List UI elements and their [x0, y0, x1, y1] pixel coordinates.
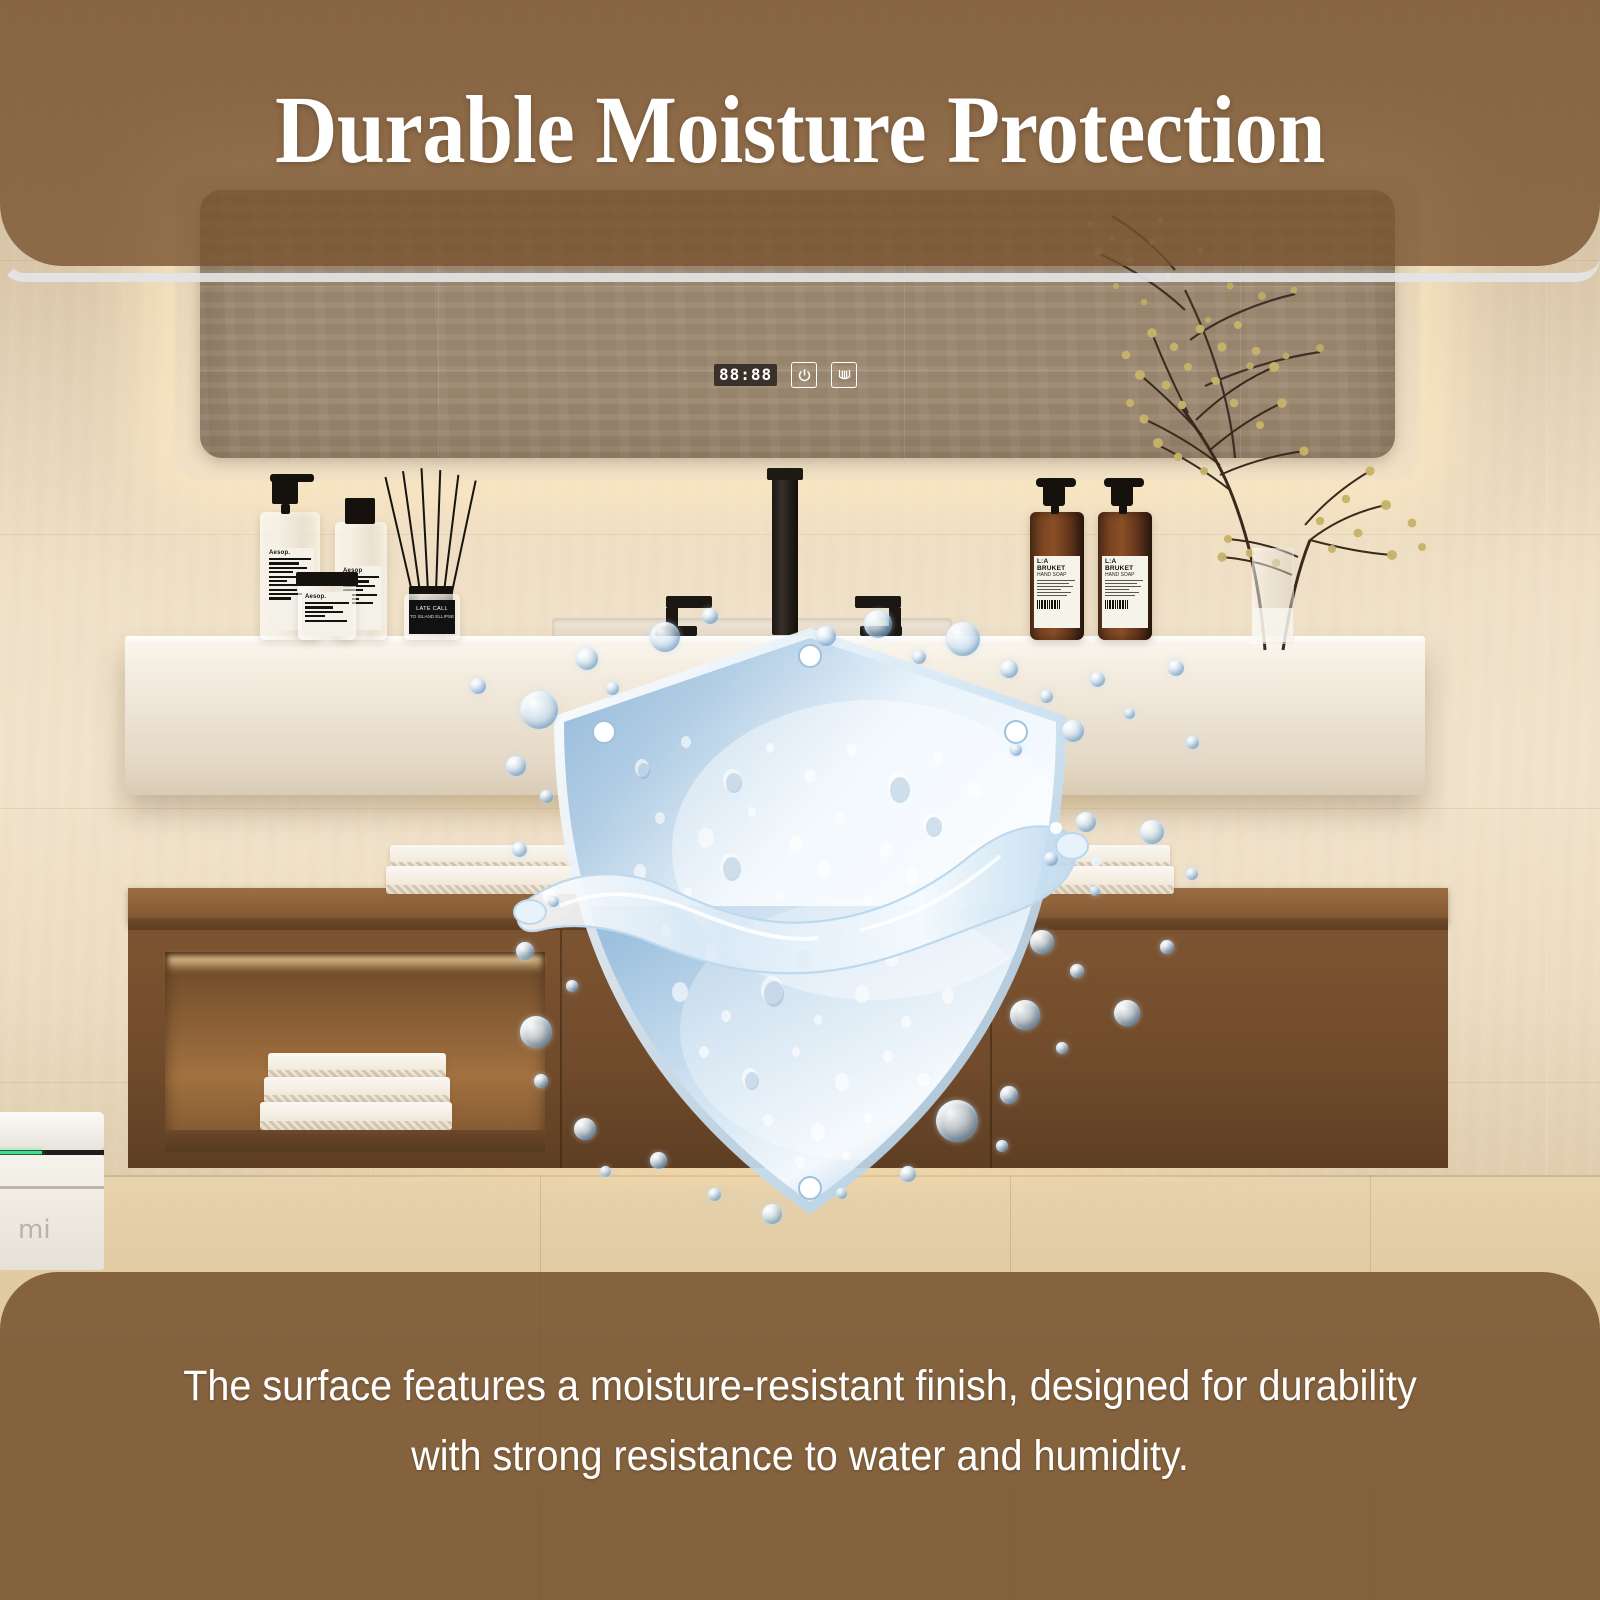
bubble — [762, 1204, 782, 1224]
bubble — [1186, 868, 1198, 880]
pump-head — [1043, 484, 1065, 506]
towel-shelf-item — [260, 1102, 452, 1130]
bubble — [946, 622, 980, 656]
bubble — [1160, 940, 1174, 954]
bubble — [606, 682, 619, 695]
water-resistance-shield — [500, 600, 1120, 1240]
bubble — [574, 1118, 596, 1140]
jar-label: Aesop. — [302, 592, 352, 636]
bubble — [1124, 708, 1135, 719]
bubble — [1030, 930, 1054, 954]
bubble — [1140, 820, 1164, 844]
bubble — [1040, 690, 1053, 703]
bottle-brand: Aesop. — [266, 548, 314, 556]
bubble — [1090, 672, 1105, 687]
bottle-cap — [345, 498, 375, 524]
bubble — [996, 1140, 1008, 1152]
bubble — [1168, 660, 1184, 676]
bubble — [836, 1188, 847, 1199]
clock-value: 88:88 — [719, 367, 772, 383]
bubble — [548, 896, 559, 907]
diffuser-sub: TO ISLAND ELLIPSE — [409, 612, 455, 619]
bubble — [936, 1100, 978, 1142]
bin-body — [0, 1155, 104, 1270]
bubble — [516, 942, 534, 960]
bubble — [1114, 1000, 1140, 1026]
bubble — [1070, 964, 1084, 978]
pump-nozzle — [270, 474, 314, 482]
bubble — [816, 626, 836, 646]
shelf-floor — [165, 1130, 545, 1152]
bin-seam — [0, 1186, 104, 1189]
bubble — [1000, 660, 1018, 678]
bubble — [900, 1166, 916, 1182]
bubble — [534, 1074, 548, 1088]
bin-lid — [0, 1112, 104, 1150]
bubble — [506, 756, 526, 776]
bubble — [650, 622, 680, 652]
shelf-led-strip — [168, 956, 542, 972]
towel-shelf-item — [268, 1053, 446, 1079]
pump-stem — [1051, 505, 1059, 514]
page-title: Durable Moisture Protection — [80, 82, 1520, 178]
bubble — [600, 1166, 611, 1177]
bubble — [708, 1188, 721, 1201]
bubble — [1186, 736, 1199, 749]
bubble — [1010, 744, 1022, 756]
bubble — [1090, 886, 1100, 896]
bubble — [864, 610, 892, 638]
bubble — [566, 980, 578, 992]
bubble — [1056, 1042, 1068, 1054]
bubble — [540, 790, 553, 803]
product-feature-banner: 88:88 Aesop. Aesop — [0, 0, 1600, 1600]
vase-water-line — [1253, 608, 1293, 642]
bubble — [512, 842, 527, 857]
pump-head — [272, 480, 298, 504]
pump-stem — [281, 504, 290, 514]
bubble — [650, 1152, 667, 1169]
mirror-control-panel[interactable]: 88:88 — [714, 362, 857, 388]
feature-caption: The surface features a moisture-resistan… — [174, 1352, 1425, 1491]
mirror-clock-display: 88:88 — [714, 364, 777, 386]
bubble — [1010, 1000, 1040, 1030]
defogger-icon[interactable] — [831, 362, 857, 388]
jar-lid — [296, 572, 358, 586]
diffuser-label: LATE CALL TO ISLAND ELLIPSE — [409, 600, 455, 634]
mi-brand-icon: mi — [18, 1215, 51, 1245]
bubble — [1076, 812, 1096, 832]
towel-shelf-item — [264, 1077, 450, 1104]
bubble — [576, 648, 598, 670]
bubble — [1000, 1086, 1018, 1104]
jar-brand: Aesop. — [302, 592, 352, 600]
bubble — [1062, 720, 1084, 742]
bubble — [702, 608, 718, 624]
bubble — [470, 678, 486, 694]
bubble — [1044, 852, 1058, 866]
power-icon[interactable] — [791, 362, 817, 388]
faucet-spout-cap — [767, 468, 803, 480]
bubble — [520, 691, 558, 729]
top-overlay-border — [0, 258, 1600, 282]
diffuser-brand: LATE CALL — [409, 600, 455, 612]
bubble — [520, 1016, 552, 1048]
bubble — [912, 650, 926, 664]
